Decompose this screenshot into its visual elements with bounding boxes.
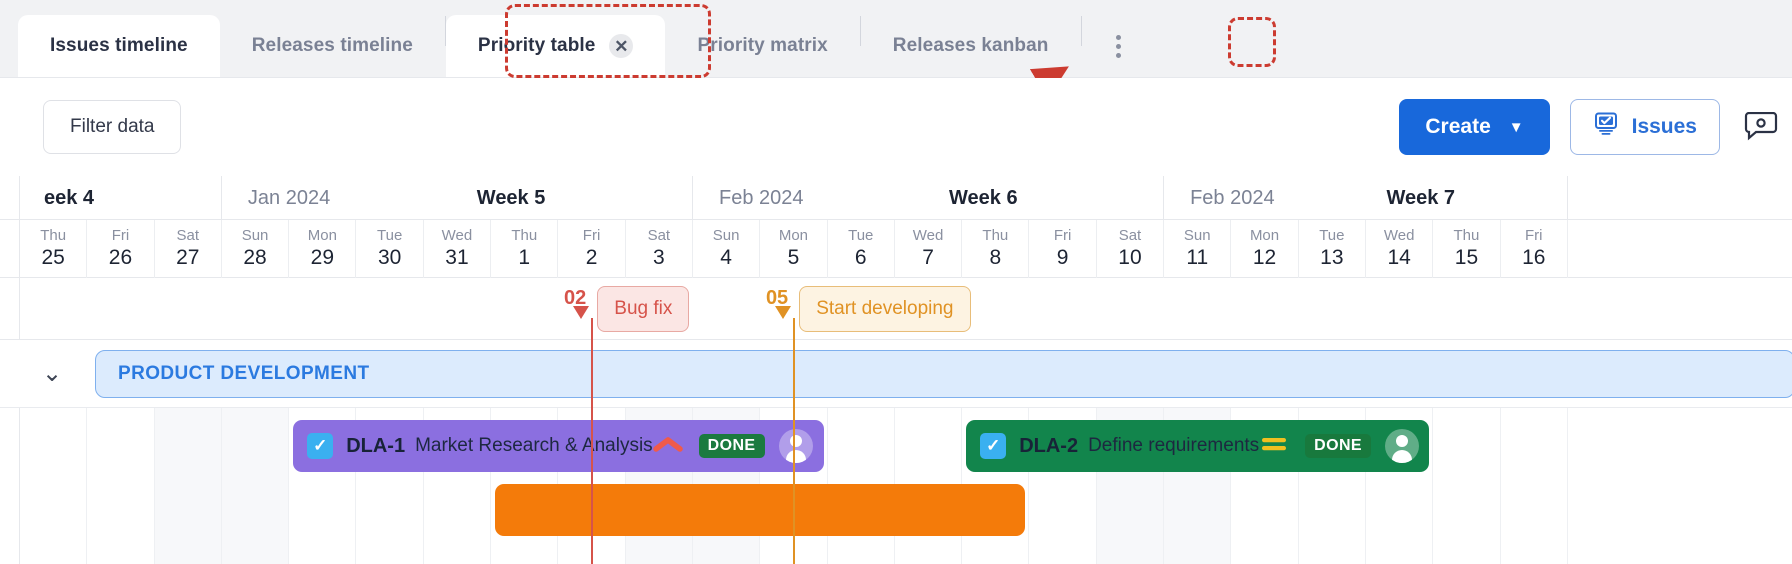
day-header-cell: Tue6 (828, 220, 895, 278)
day-number-label: 4 (720, 246, 732, 270)
chevron-down-icon[interactable]: ⌄ (42, 362, 66, 386)
task-title: Define requirements (1088, 435, 1259, 457)
toolbar: Filter data Create ▼ Issues (0, 78, 1792, 176)
week-number-label: eek 4 (44, 187, 94, 210)
day-of-week-label: Thu (511, 228, 537, 245)
gantt-timeline-app: Issues timeline Releases timeline Priori… (0, 0, 1792, 564)
week-month-label: Feb 2024 (1190, 187, 1275, 210)
day-header-cell: Tue30 (357, 220, 424, 278)
priority-high-icon (653, 435, 683, 458)
issues-button[interactable]: Issues (1570, 99, 1720, 155)
tab-bar: Issues timeline Releases timeline Priori… (0, 0, 1792, 78)
milestone-day-number: 05 (766, 288, 788, 308)
milestone-marker[interactable]: 02Bug fix (564, 286, 689, 332)
day-of-week-label: Sun (713, 228, 740, 245)
week-header-cell: eek 4 (0, 176, 222, 220)
day-of-week-label: Tue (848, 228, 873, 245)
tab-label: Priority matrix (697, 35, 827, 57)
chevron-down-icon: ▼ (1509, 119, 1524, 136)
tab-label: Priority table (478, 35, 596, 57)
day-number-label: 8 (989, 246, 1001, 270)
day-of-week-label: Fri (1054, 228, 1072, 245)
milestone-label[interactable]: Start developing (799, 286, 970, 332)
timeline-milestone-row: 02Bug fix05Start developing (0, 278, 1792, 340)
milestone-label[interactable]: Bug fix (597, 286, 689, 332)
create-label: Create (1425, 115, 1490, 139)
day-number-label: 31 (445, 246, 468, 270)
day-header-cell: Fri9 (1030, 220, 1097, 278)
tab-divider (1081, 16, 1082, 46)
day-header-cell: Sun4 (693, 220, 760, 278)
day-header-cell: Sat27 (155, 220, 222, 278)
tab-issues-timeline[interactable]: Issues timeline (18, 15, 220, 77)
day-of-week-label: Wed (442, 228, 473, 245)
day-of-week-label: Thu (982, 228, 1008, 245)
day-header-cell: Thu25 (20, 220, 87, 278)
tab-label: Issues timeline (50, 35, 188, 57)
day-of-week-label: Thu (40, 228, 66, 245)
tab-priority-matrix[interactable]: Priority matrix (665, 15, 859, 77)
day-of-week-label: Sat (176, 228, 199, 245)
day-of-week-label: Sat (1119, 228, 1142, 245)
group-name: PRODUCT DEVELOPMENT (118, 363, 369, 385)
day-number-label: 6 (855, 246, 867, 270)
day-of-week-label: Mon (779, 228, 808, 245)
day-number-label: 9 (1057, 246, 1069, 270)
day-header-cell: Sat10 (1097, 220, 1164, 278)
task-key: DLA-2 (1019, 435, 1078, 458)
week-number-label: Week 6 (949, 187, 1018, 210)
day-number-label: 29 (311, 246, 334, 270)
day-number-label: 14 (1387, 246, 1410, 270)
week-header-cell: Feb 2024Week 6 (693, 176, 1164, 220)
day-header-cell: Thu1 (491, 220, 558, 278)
day-number-label: 11 (1186, 246, 1208, 270)
avatar[interactable] (779, 429, 813, 463)
day-number-label: 27 (176, 246, 199, 270)
milestone-guide-line (793, 318, 795, 564)
status-badge: DONE (699, 434, 765, 458)
group-row-product-development: ⌄ PRODUCT DEVELOPMENT (0, 340, 1792, 408)
day-number-label: 12 (1253, 246, 1276, 270)
week-number-label: Week 5 (477, 187, 546, 210)
milestone-day-number: 02 (564, 288, 586, 308)
create-button[interactable]: Create ▼ (1399, 99, 1549, 155)
day-number-label: 16 (1522, 246, 1545, 270)
milestone-pointer-icon (573, 306, 589, 319)
toolbar-right-actions: Create ▼ Issues (1399, 99, 1792, 155)
monitor-check-icon (1593, 112, 1619, 142)
day-header-cell: Fri16 (1501, 220, 1568, 278)
task-bar-dla-2[interactable]: ✓DLA-2Define requirementsDONE (966, 420, 1429, 472)
timeline-day-header: Thu25Fri26Sat27Sun28Mon29Tue30Wed31Thu1F… (0, 220, 1792, 278)
comment-icon[interactable] (1744, 107, 1784, 147)
week-number-label: Week 7 (1386, 187, 1455, 210)
day-of-week-label: Fri (1525, 228, 1543, 245)
day-of-week-label: Fri (583, 228, 601, 245)
day-header-cell: Mon29 (289, 220, 356, 278)
milestone-guide-line (591, 318, 593, 564)
day-of-week-label: Fri (112, 228, 130, 245)
task-bar[interactable] (495, 484, 1025, 536)
day-header-cell: Thu8 (962, 220, 1029, 278)
tab-label: Releases timeline (252, 35, 413, 57)
more-vertical-icon[interactable] (1096, 23, 1142, 69)
week-month-label: Feb 2024 (719, 187, 804, 210)
day-number-label: 28 (243, 246, 266, 270)
day-number-label: 5 (788, 246, 800, 270)
day-number-label: 30 (378, 246, 401, 270)
week-month-label: Jan 2024 (248, 187, 330, 210)
day-number-label: 25 (41, 246, 64, 270)
tab-priority-table[interactable]: Priority table ✕ (446, 15, 666, 77)
day-header-cell: Sun11 (1164, 220, 1231, 278)
close-icon[interactable]: ✕ (609, 34, 633, 58)
day-number-label: 2 (586, 246, 598, 270)
day-of-week-label: Thu (1454, 228, 1480, 245)
task-title: Market Research & Analysis (415, 435, 653, 457)
day-of-week-label: Mon (1250, 228, 1279, 245)
day-header-cell: Mon5 (760, 220, 827, 278)
day-number-label: 26 (109, 246, 132, 270)
timeline-grid: eek 4Jan 2024Week 5Feb 2024Week 6Feb 202… (0, 176, 1792, 564)
milestone-marker[interactable]: 05Start developing (766, 286, 971, 332)
tab-releases-kanban[interactable]: Releases kanban (861, 15, 1081, 77)
week-header-cell: Jan 2024Week 5 (222, 176, 693, 220)
day-of-week-label: Mon (308, 228, 337, 245)
day-of-week-label: Sat (648, 228, 671, 245)
day-header-cell: Fri26 (87, 220, 154, 278)
day-header-cell: Wed14 (1366, 220, 1433, 278)
day-number-label: 3 (653, 246, 665, 270)
day-number-label: 15 (1455, 246, 1478, 270)
milestone-pointer-icon (775, 306, 791, 319)
day-header-cell: Sat3 (626, 220, 693, 278)
day-of-week-label: Tue (1319, 228, 1344, 245)
day-of-week-label: Sun (1184, 228, 1211, 245)
priority-medium-icon (1259, 435, 1289, 458)
filter-data-label: Filter data (70, 116, 154, 138)
day-header-cell: Fri2 (558, 220, 625, 278)
filter-data-button[interactable]: Filter data (43, 100, 181, 154)
timeline-week-header: eek 4Jan 2024Week 5Feb 2024Week 6Feb 202… (0, 176, 1792, 220)
day-header-cell: Sun28 (222, 220, 289, 278)
check-icon[interactable]: ✓ (307, 433, 333, 459)
day-number-label: 7 (922, 246, 934, 270)
avatar[interactable] (1385, 429, 1419, 463)
tab-label: Releases kanban (893, 35, 1049, 57)
day-header-cell: Mon12 (1231, 220, 1298, 278)
status-badge: DONE (1305, 434, 1371, 458)
day-header-cell: Thu15 (1433, 220, 1500, 278)
day-header-cell: Wed31 (424, 220, 491, 278)
day-header-cell: Tue13 (1299, 220, 1366, 278)
day-of-week-label: Tue (377, 228, 402, 245)
task-key: DLA-1 (346, 435, 405, 458)
week-header-cell: Feb 2024Week 7 (1164, 176, 1568, 220)
task-bar-dla-1[interactable]: ✓DLA-1Market Research & AnalysisDONE (293, 420, 823, 472)
day-number-label: 10 (1118, 246, 1141, 270)
group-bar[interactable]: PRODUCT DEVELOPMENT (95, 350, 1792, 398)
day-of-week-label: Wed (1384, 228, 1415, 245)
day-number-label: 13 (1320, 246, 1343, 270)
day-of-week-label: Wed (913, 228, 944, 245)
tab-releases-timeline[interactable]: Releases timeline (220, 15, 445, 77)
issues-label: Issues (1632, 115, 1697, 139)
check-icon[interactable]: ✓ (980, 433, 1006, 459)
day-of-week-label: Sun (242, 228, 269, 245)
day-header-cell: Wed7 (895, 220, 962, 278)
day-number-label: 1 (518, 246, 530, 270)
